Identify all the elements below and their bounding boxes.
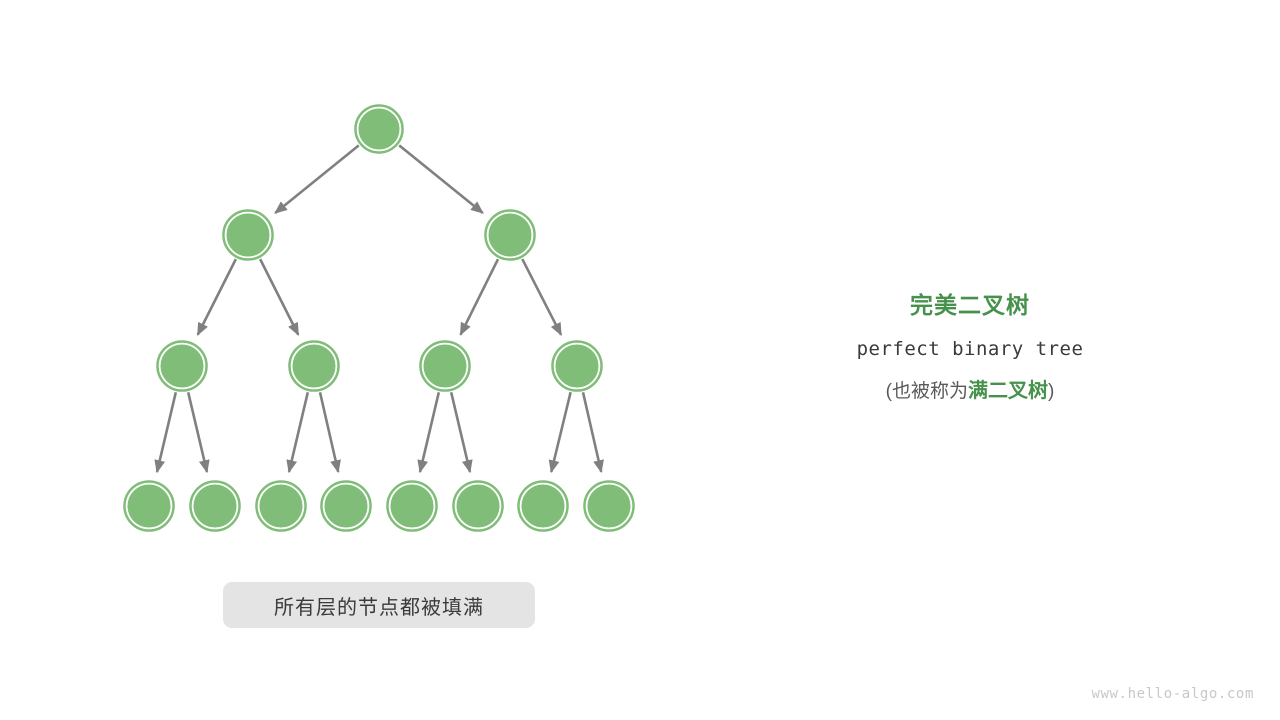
tree-edge xyxy=(260,259,298,335)
tree-node-disc xyxy=(128,485,170,527)
tree-node[interactable] xyxy=(552,341,602,391)
tree-node-disc xyxy=(194,485,236,527)
tree-node-disc xyxy=(359,109,399,149)
node-layer xyxy=(124,105,634,531)
legend-alias-suffix: ) xyxy=(1048,381,1054,402)
tree-edge xyxy=(420,392,439,472)
legend-alias-highlight: 满二叉树 xyxy=(968,380,1048,402)
tree-node-disc xyxy=(457,485,499,527)
tree-node-disc xyxy=(227,214,269,256)
tree-edge xyxy=(522,259,561,335)
tree-edge xyxy=(157,392,176,472)
tree-node-disc xyxy=(260,485,302,527)
legend-subtitle: perfect binary tree xyxy=(760,336,1180,362)
watermark: www.hello-algo.com xyxy=(1091,686,1254,702)
tree-edge xyxy=(451,392,470,472)
tree-node[interactable] xyxy=(453,481,503,531)
tree-node[interactable] xyxy=(124,481,174,531)
tree-node-disc xyxy=(391,485,433,527)
tree-node[interactable] xyxy=(485,210,535,260)
tree-node[interactable] xyxy=(355,105,403,153)
caption-pill: 所有层的节点都被填满 xyxy=(223,582,535,628)
tree-edge xyxy=(275,145,359,213)
tree-node[interactable] xyxy=(289,341,339,391)
tree-edge xyxy=(188,392,207,472)
legend-block: 完美二叉树 perfect binary tree (也被称为满二叉树) xyxy=(760,290,1180,405)
tree-edge xyxy=(198,259,236,335)
tree-node[interactable] xyxy=(584,481,634,531)
tree-node[interactable] xyxy=(420,341,470,391)
tree-node-disc xyxy=(489,214,531,256)
legend-title: 完美二叉树 xyxy=(760,290,1180,320)
tree-edge xyxy=(583,392,601,472)
tree-node[interactable] xyxy=(190,481,240,531)
tree-node[interactable] xyxy=(223,210,273,260)
edge-layer xyxy=(157,145,601,472)
tree-node-disc xyxy=(522,485,564,527)
diagram-canvas: 完美二叉树 perfect binary tree (也被称为满二叉树) 所有层… xyxy=(0,0,1280,720)
tree-node-disc xyxy=(556,345,598,387)
tree-node[interactable] xyxy=(256,481,306,531)
tree-node[interactable] xyxy=(518,481,568,531)
tree-node-disc xyxy=(424,345,466,387)
legend-alias: (也被称为满二叉树) xyxy=(760,378,1180,405)
tree-edge xyxy=(399,145,483,213)
tree-node-disc xyxy=(161,345,203,387)
tree-node[interactable] xyxy=(157,341,207,391)
tree-edge xyxy=(289,392,308,472)
tree-edge xyxy=(320,392,338,472)
tree-edge xyxy=(551,392,570,472)
tree-node-disc xyxy=(588,485,630,527)
tree-edge xyxy=(461,259,498,334)
tree-node[interactable] xyxy=(387,481,437,531)
tree-node-disc xyxy=(293,345,335,387)
tree-node[interactable] xyxy=(321,481,371,531)
tree-node-disc xyxy=(325,485,367,527)
legend-alias-prefix: (也被称为 xyxy=(886,381,968,402)
caption-text: 所有层的节点都被填满 xyxy=(274,591,484,620)
